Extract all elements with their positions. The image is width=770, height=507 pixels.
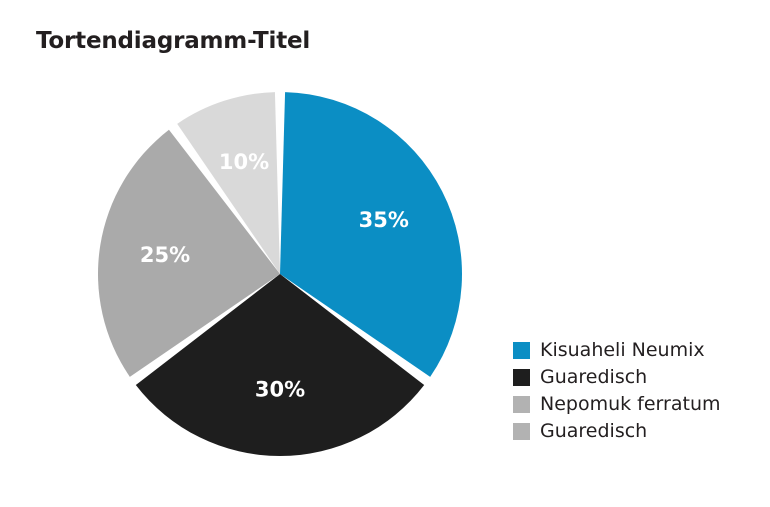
pie-label-25: 25%: [140, 243, 190, 267]
legend-swatch-icon: [513, 423, 530, 440]
legend-item-label: Kisuaheli Neumix: [540, 341, 705, 360]
legend-item-label: Nepomuk ferratum: [540, 395, 721, 414]
legend-swatch-icon: [513, 342, 530, 359]
legend-item-kisuaheli-neumix[interactable]: Kisuaheli Neumix: [513, 337, 763, 364]
page-title: Tortendiagramm-Titel: [36, 28, 310, 54]
legend-item-label: Guaredisch: [540, 368, 647, 387]
legend-item-nepomuk-ferratum[interactable]: Nepomuk ferratum: [513, 391, 763, 418]
legend-swatch-icon: [513, 396, 530, 413]
chart-canvas: Tortendiagramm-Titel 35% 30% 25% 10% Kis…: [0, 0, 770, 507]
pie-label-30: 30%: [255, 378, 305, 402]
pie-chart: 35% 30% 25% 10%: [96, 90, 464, 458]
legend-item-guaredisch-2[interactable]: Guaredisch: [513, 418, 763, 445]
chart-legend: Kisuaheli Neumix Guaredisch Nepomuk ferr…: [513, 337, 763, 445]
legend-swatch-icon: [513, 369, 530, 386]
legend-item-label: Guaredisch: [540, 422, 647, 441]
legend-item-guaredisch-1[interactable]: Guaredisch: [513, 364, 763, 391]
pie-chart-svg: 35% 30% 25% 10%: [96, 90, 464, 458]
pie-label-10: 10%: [219, 150, 269, 174]
pie-label-35: 35%: [359, 208, 409, 232]
